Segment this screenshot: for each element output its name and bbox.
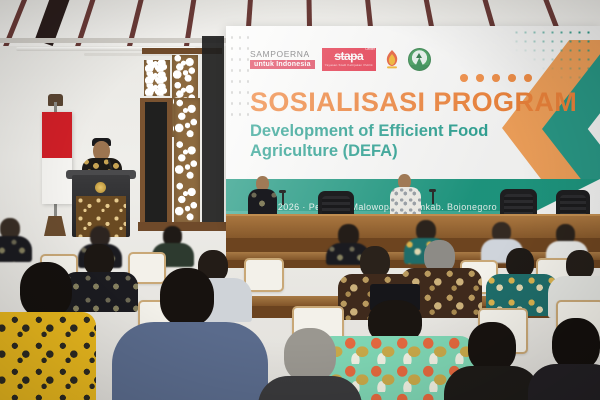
carved-wood-panel-tall — [174, 98, 200, 224]
doorway-dark — [145, 102, 167, 222]
slide-title: SOSIALISASI PROGRAM — [250, 89, 577, 116]
slide-subtitle-line2: Agriculture (DEFA) — [250, 141, 488, 161]
orange-dot-row — [460, 74, 532, 82]
indonesian-flag — [42, 112, 72, 204]
podium-emblem — [95, 182, 106, 193]
conference-photo-scene: SAMPOERNA untuk Indonesia Center stapa Y… — [0, 0, 600, 400]
stapa-logo: Center stapa Yayasan Studi Kebijakan Pub… — [322, 48, 376, 70]
slide-subtitle: Development of Efficient Food Agricultur… — [250, 121, 488, 162]
slide-subtitle-line1: Development of Efficient Food — [250, 121, 488, 141]
flame-icon — [383, 49, 401, 70]
panel-microphone-right — [432, 191, 434, 204]
sampoerna-logo-line2: untuk Indonesia — [250, 60, 315, 69]
window-dark — [202, 36, 224, 228]
logo-row: SAMPOERNA untuk Indonesia Center stapa Y… — [250, 48, 431, 71]
stapa-logo-tag: Center — [365, 47, 375, 51]
sampoerna-logo: SAMPOERNA untuk Indonesia — [250, 50, 315, 69]
stapa-logo-name: stapa — [334, 50, 363, 62]
panel-microphone-left-head — [279, 190, 286, 193]
stapa-logo-sub: Yayasan Studi Kebijakan Publik — [325, 63, 373, 67]
wall-baseboard — [138, 222, 226, 231]
carved-wood-panel-upper-left — [144, 60, 170, 96]
panel-microphone-right-head — [429, 189, 436, 192]
teal-dot-pattern — [512, 28, 590, 80]
sampoerna-logo-line1: SAMPOERNA — [250, 50, 310, 59]
panel-microphone-left — [282, 192, 284, 205]
regency-seal-icon — [408, 48, 431, 71]
